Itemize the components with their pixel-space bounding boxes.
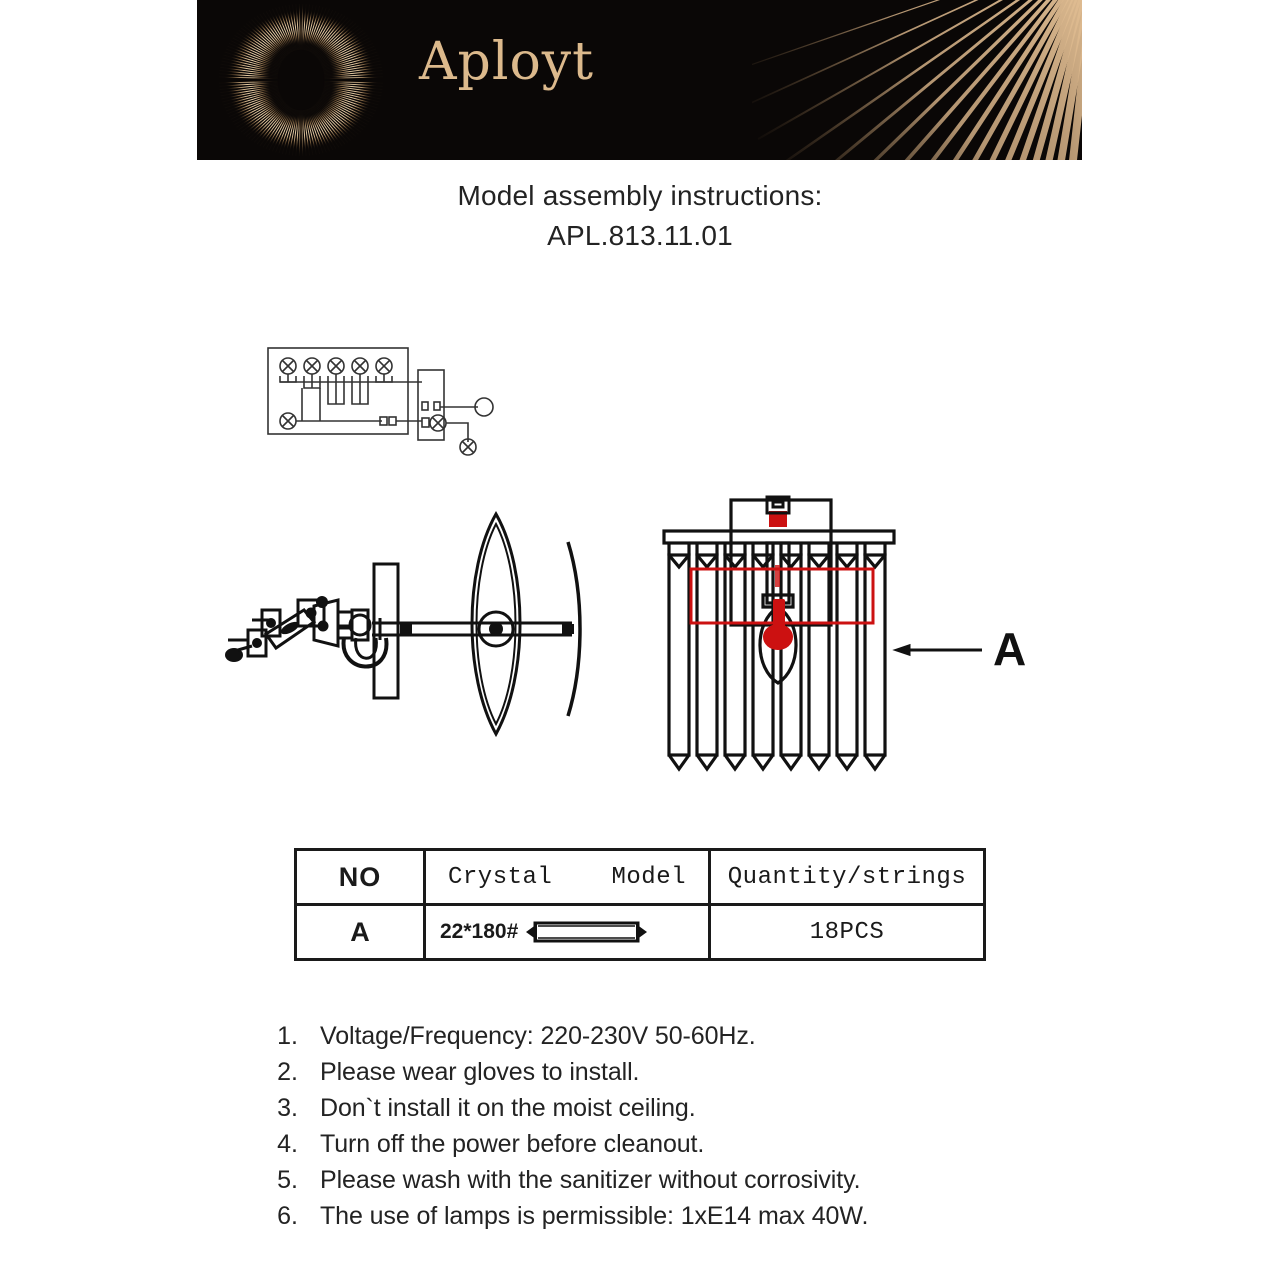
- list-item: 2. Please wear gloves to install.: [252, 1054, 1152, 1090]
- list-item: 4. Turn off the power before cleanout.: [252, 1126, 1152, 1162]
- crystal-rod-icon: [524, 919, 649, 945]
- title-line-1: Model assembly instructions:: [0, 176, 1280, 216]
- cell-no: A: [296, 905, 425, 960]
- note-text: The use of lamps is permissible: 1xE14 m…: [298, 1198, 868, 1234]
- note-number: 5.: [252, 1162, 298, 1198]
- lens-crystal: [472, 514, 520, 734]
- title-line-2: APL.813.11.01: [0, 216, 1280, 256]
- table-row: A 22*180# 18PCS: [296, 905, 985, 960]
- note-text: Please wear gloves to install.: [298, 1054, 639, 1090]
- wiring-diagram: [262, 342, 502, 457]
- header-crystal-model: Crystal Model: [425, 850, 710, 905]
- note-number: 3.: [252, 1090, 298, 1126]
- note-number: 6.: [252, 1198, 298, 1234]
- angle-plate: [314, 600, 338, 646]
- front-view-diagram: A: [645, 485, 1045, 795]
- notes-list: 1. Voltage/Frequency: 220-230V 50-60Hz. …: [252, 1018, 1152, 1234]
- list-item: 1. Voltage/Frequency: 220-230V 50-60Hz.: [252, 1018, 1152, 1054]
- list-item: 6. The use of lamps is permissible: 1xE1…: [252, 1198, 1152, 1234]
- callout-label-a: A: [993, 623, 1026, 675]
- header-crystal: Crystal: [448, 864, 552, 891]
- brand-wordmark: Aployt: [419, 36, 594, 88]
- cell-model: 22*180#: [425, 905, 710, 960]
- top-rail: [664, 531, 894, 543]
- table-header-row: NO Crystal Model Quantity/strings: [296, 850, 985, 905]
- note-number: 4.: [252, 1126, 298, 1162]
- header-no: NO: [296, 850, 425, 905]
- header-model: Model: [611, 864, 686, 891]
- cell-model-text: 22*180#: [440, 920, 518, 944]
- ground-screw: [280, 413, 296, 429]
- header-banner: Aployt: [197, 0, 1082, 160]
- exploded-side-view-diagram: [222, 498, 622, 748]
- ray-fan-icon: [752, 0, 1082, 160]
- list-item: 5. Please wash with the sanitizer withou…: [252, 1162, 1152, 1198]
- note-text: Don`t install it on the moist ceiling.: [298, 1090, 696, 1126]
- screw-terminal-row: [280, 358, 392, 404]
- header-quantity: Quantity/strings: [710, 850, 985, 905]
- parts-table: NO Crystal Model Quantity/strings A 22*1…: [294, 848, 982, 961]
- sunburst-logo-icon: [217, 4, 385, 156]
- page-title: Model assembly instructions: APL.813.11.…: [0, 176, 1280, 256]
- note-text: Please wash with the sanitizer without c…: [298, 1162, 861, 1198]
- list-item: 3. Don`t install it on the moist ceiling…: [252, 1090, 1152, 1126]
- note-number: 1.: [252, 1018, 298, 1054]
- note-text: Voltage/Frequency: 220-230V 50-60Hz.: [298, 1018, 756, 1054]
- callout-leader: [897, 646, 982, 654]
- wall-plate: [374, 564, 398, 698]
- cell-quantity: 18PCS: [710, 905, 985, 960]
- note-text: Turn off the power before cleanout.: [298, 1126, 704, 1162]
- note-number: 2.: [252, 1054, 298, 1090]
